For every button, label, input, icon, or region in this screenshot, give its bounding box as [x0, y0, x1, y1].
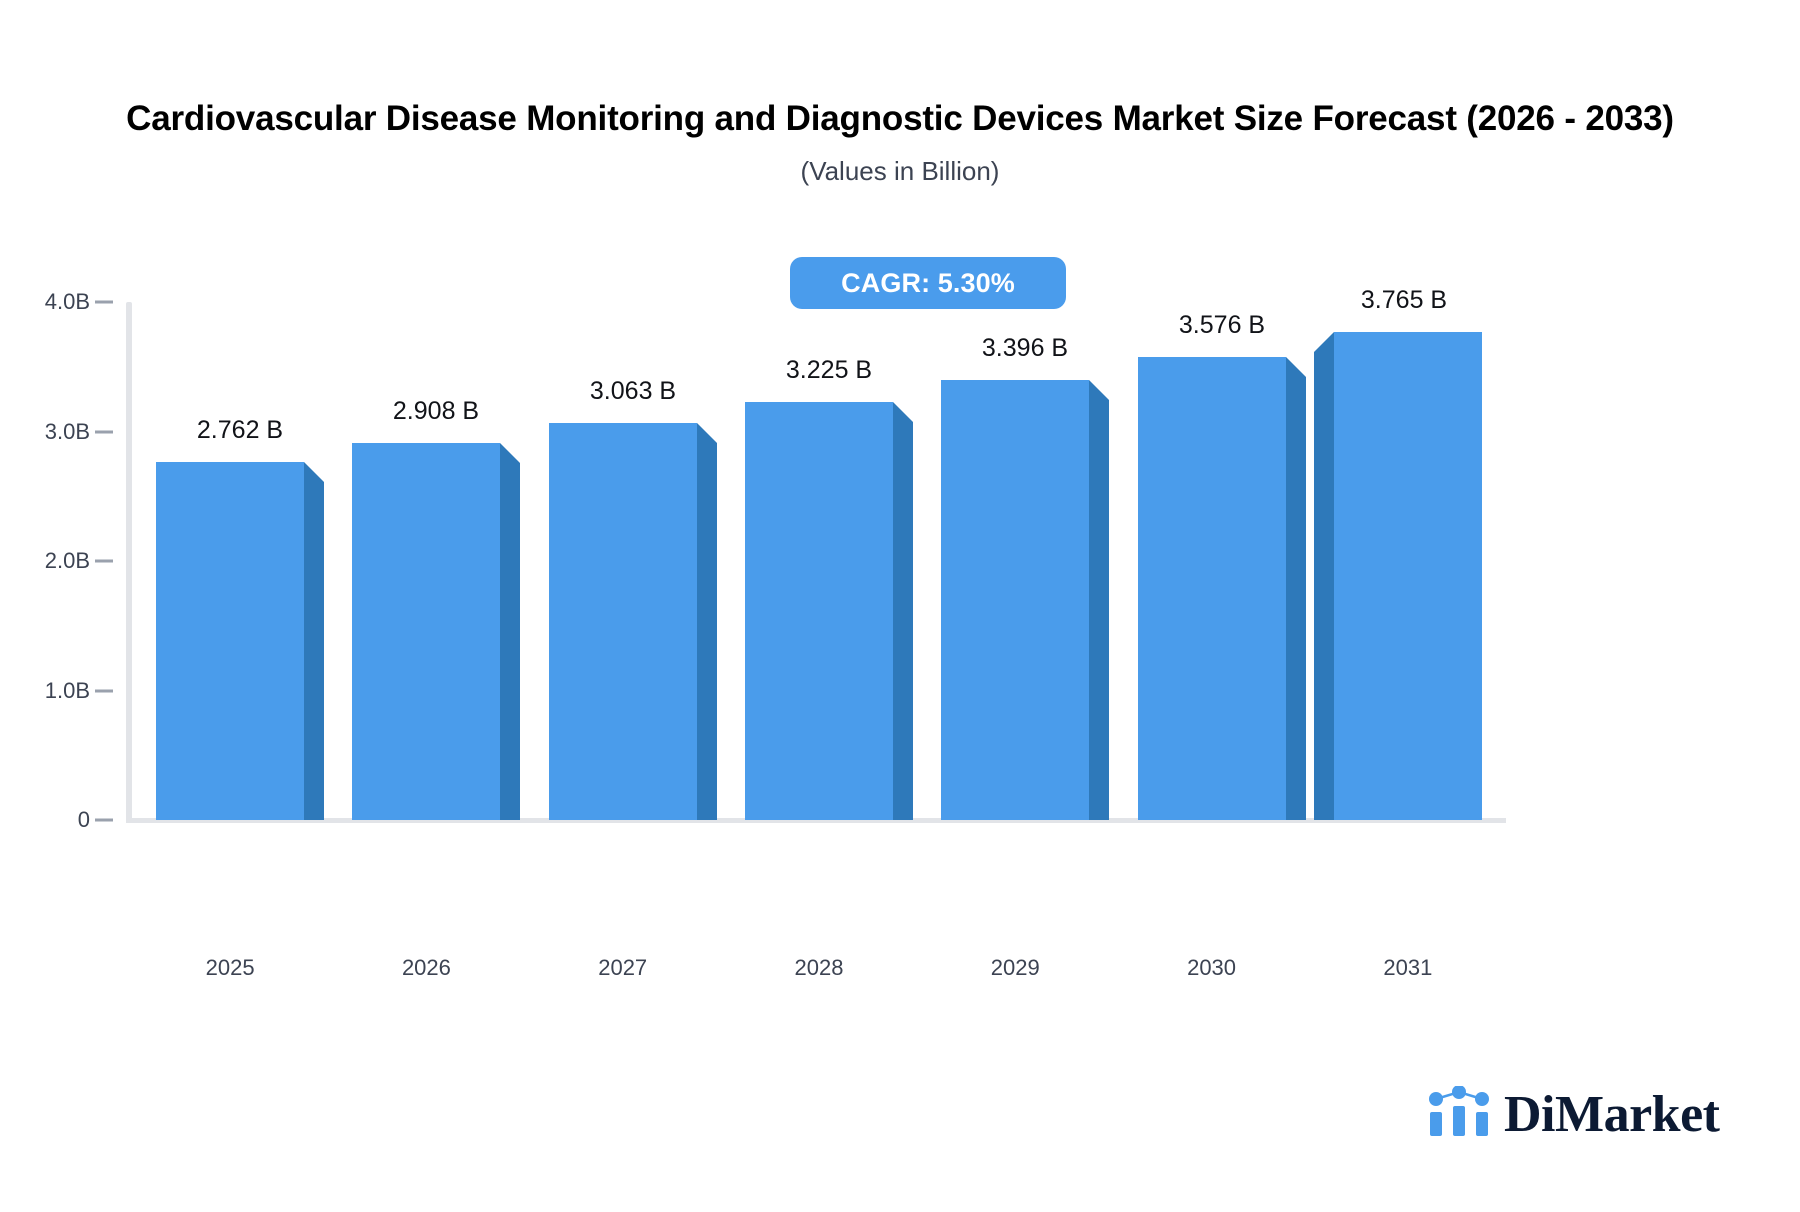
- x-axis-tick-label: 2026: [402, 955, 451, 981]
- bar-2028[interactable]: 3.225 B: [0, 0, 1800, 1212]
- bar-side-face: [1089, 400, 1109, 820]
- bar-2025[interactable]: 2.762 B: [0, 0, 1800, 1212]
- y-axis-tick-label: 1.0B: [0, 678, 90, 704]
- bar-front-face: [745, 402, 893, 820]
- bar-2029[interactable]: 3.396 B: [0, 0, 1800, 1212]
- brand-logo: DiMarket: [1428, 1086, 1719, 1143]
- y-axis-tick-mark: [95, 689, 113, 692]
- bar-value-label: 2.762 B: [197, 416, 283, 445]
- bar-2031[interactable]: 3.765 B: [0, 0, 1800, 1212]
- logo-text: DiMarket: [1504, 1089, 1719, 1141]
- bar-top-cap: [500, 443, 520, 463]
- x-axis-tick-label: 2025: [206, 955, 255, 981]
- y-axis-tick-mark: [95, 430, 113, 433]
- x-axis-tick-label: 2029: [991, 955, 1040, 981]
- y-axis-tick-label: 2.0B: [0, 548, 90, 574]
- bar-value-label: 3.396 B: [982, 334, 1068, 363]
- y-axis-tick-label: 3.0B: [0, 419, 90, 445]
- bar-front-face: [352, 443, 500, 820]
- bar-front-face: [156, 462, 304, 820]
- x-axis-line: [126, 818, 1506, 823]
- y-axis-tick-mark: [95, 301, 113, 304]
- bar-value-label: 2.908 B: [393, 397, 479, 426]
- bar-value-label: 3.576 B: [1179, 311, 1265, 340]
- y-axis-tick-mark: [95, 819, 113, 822]
- bar-side-face: [1314, 352, 1334, 820]
- bar-top-cap: [697, 423, 717, 443]
- bar-top-cap: [1089, 380, 1109, 400]
- bar-top-cap: [1286, 357, 1306, 377]
- y-axis-tick-mark: [95, 560, 113, 563]
- bar-front-face: [941, 380, 1089, 820]
- x-axis-tick-label: 2027: [598, 955, 647, 981]
- bar-top-cap: [1314, 332, 1334, 352]
- bar-value-label: 3.765 B: [1361, 286, 1447, 315]
- bar-side-face: [1286, 377, 1306, 820]
- y-axis-tick-label: 0: [0, 807, 90, 833]
- bar-2026[interactable]: 2.908 B: [0, 0, 1800, 1212]
- bar-top-cap: [304, 462, 324, 482]
- bar-side-face: [893, 422, 913, 820]
- bar-front-face: [1334, 332, 1482, 820]
- bar-top-cap: [893, 402, 913, 422]
- bar-chart: 01.0B2.0B3.0B4.0B 2.762 B2.908 B3.063 B3…: [0, 0, 1800, 1212]
- bar-value-label: 3.063 B: [590, 377, 676, 406]
- bar-side-face: [697, 443, 717, 820]
- bar-side-face: [500, 463, 520, 820]
- bar-front-face: [549, 423, 697, 820]
- bar-front-face: [1138, 357, 1286, 820]
- x-axis-tick-label: 2031: [1383, 955, 1432, 981]
- bar-2030[interactable]: 3.576 B: [0, 0, 1800, 1212]
- x-axis-tick-label: 2030: [1187, 955, 1236, 981]
- bar-2027[interactable]: 3.063 B: [0, 0, 1800, 1212]
- bar-value-label: 3.225 B: [786, 356, 872, 385]
- bar-side-face: [304, 482, 324, 820]
- y-axis-tick-label: 4.0B: [0, 289, 90, 315]
- bar-chart-icon: [1428, 1086, 1490, 1143]
- y-axis-line: [126, 302, 132, 822]
- x-axis-tick-label: 2028: [795, 955, 844, 981]
